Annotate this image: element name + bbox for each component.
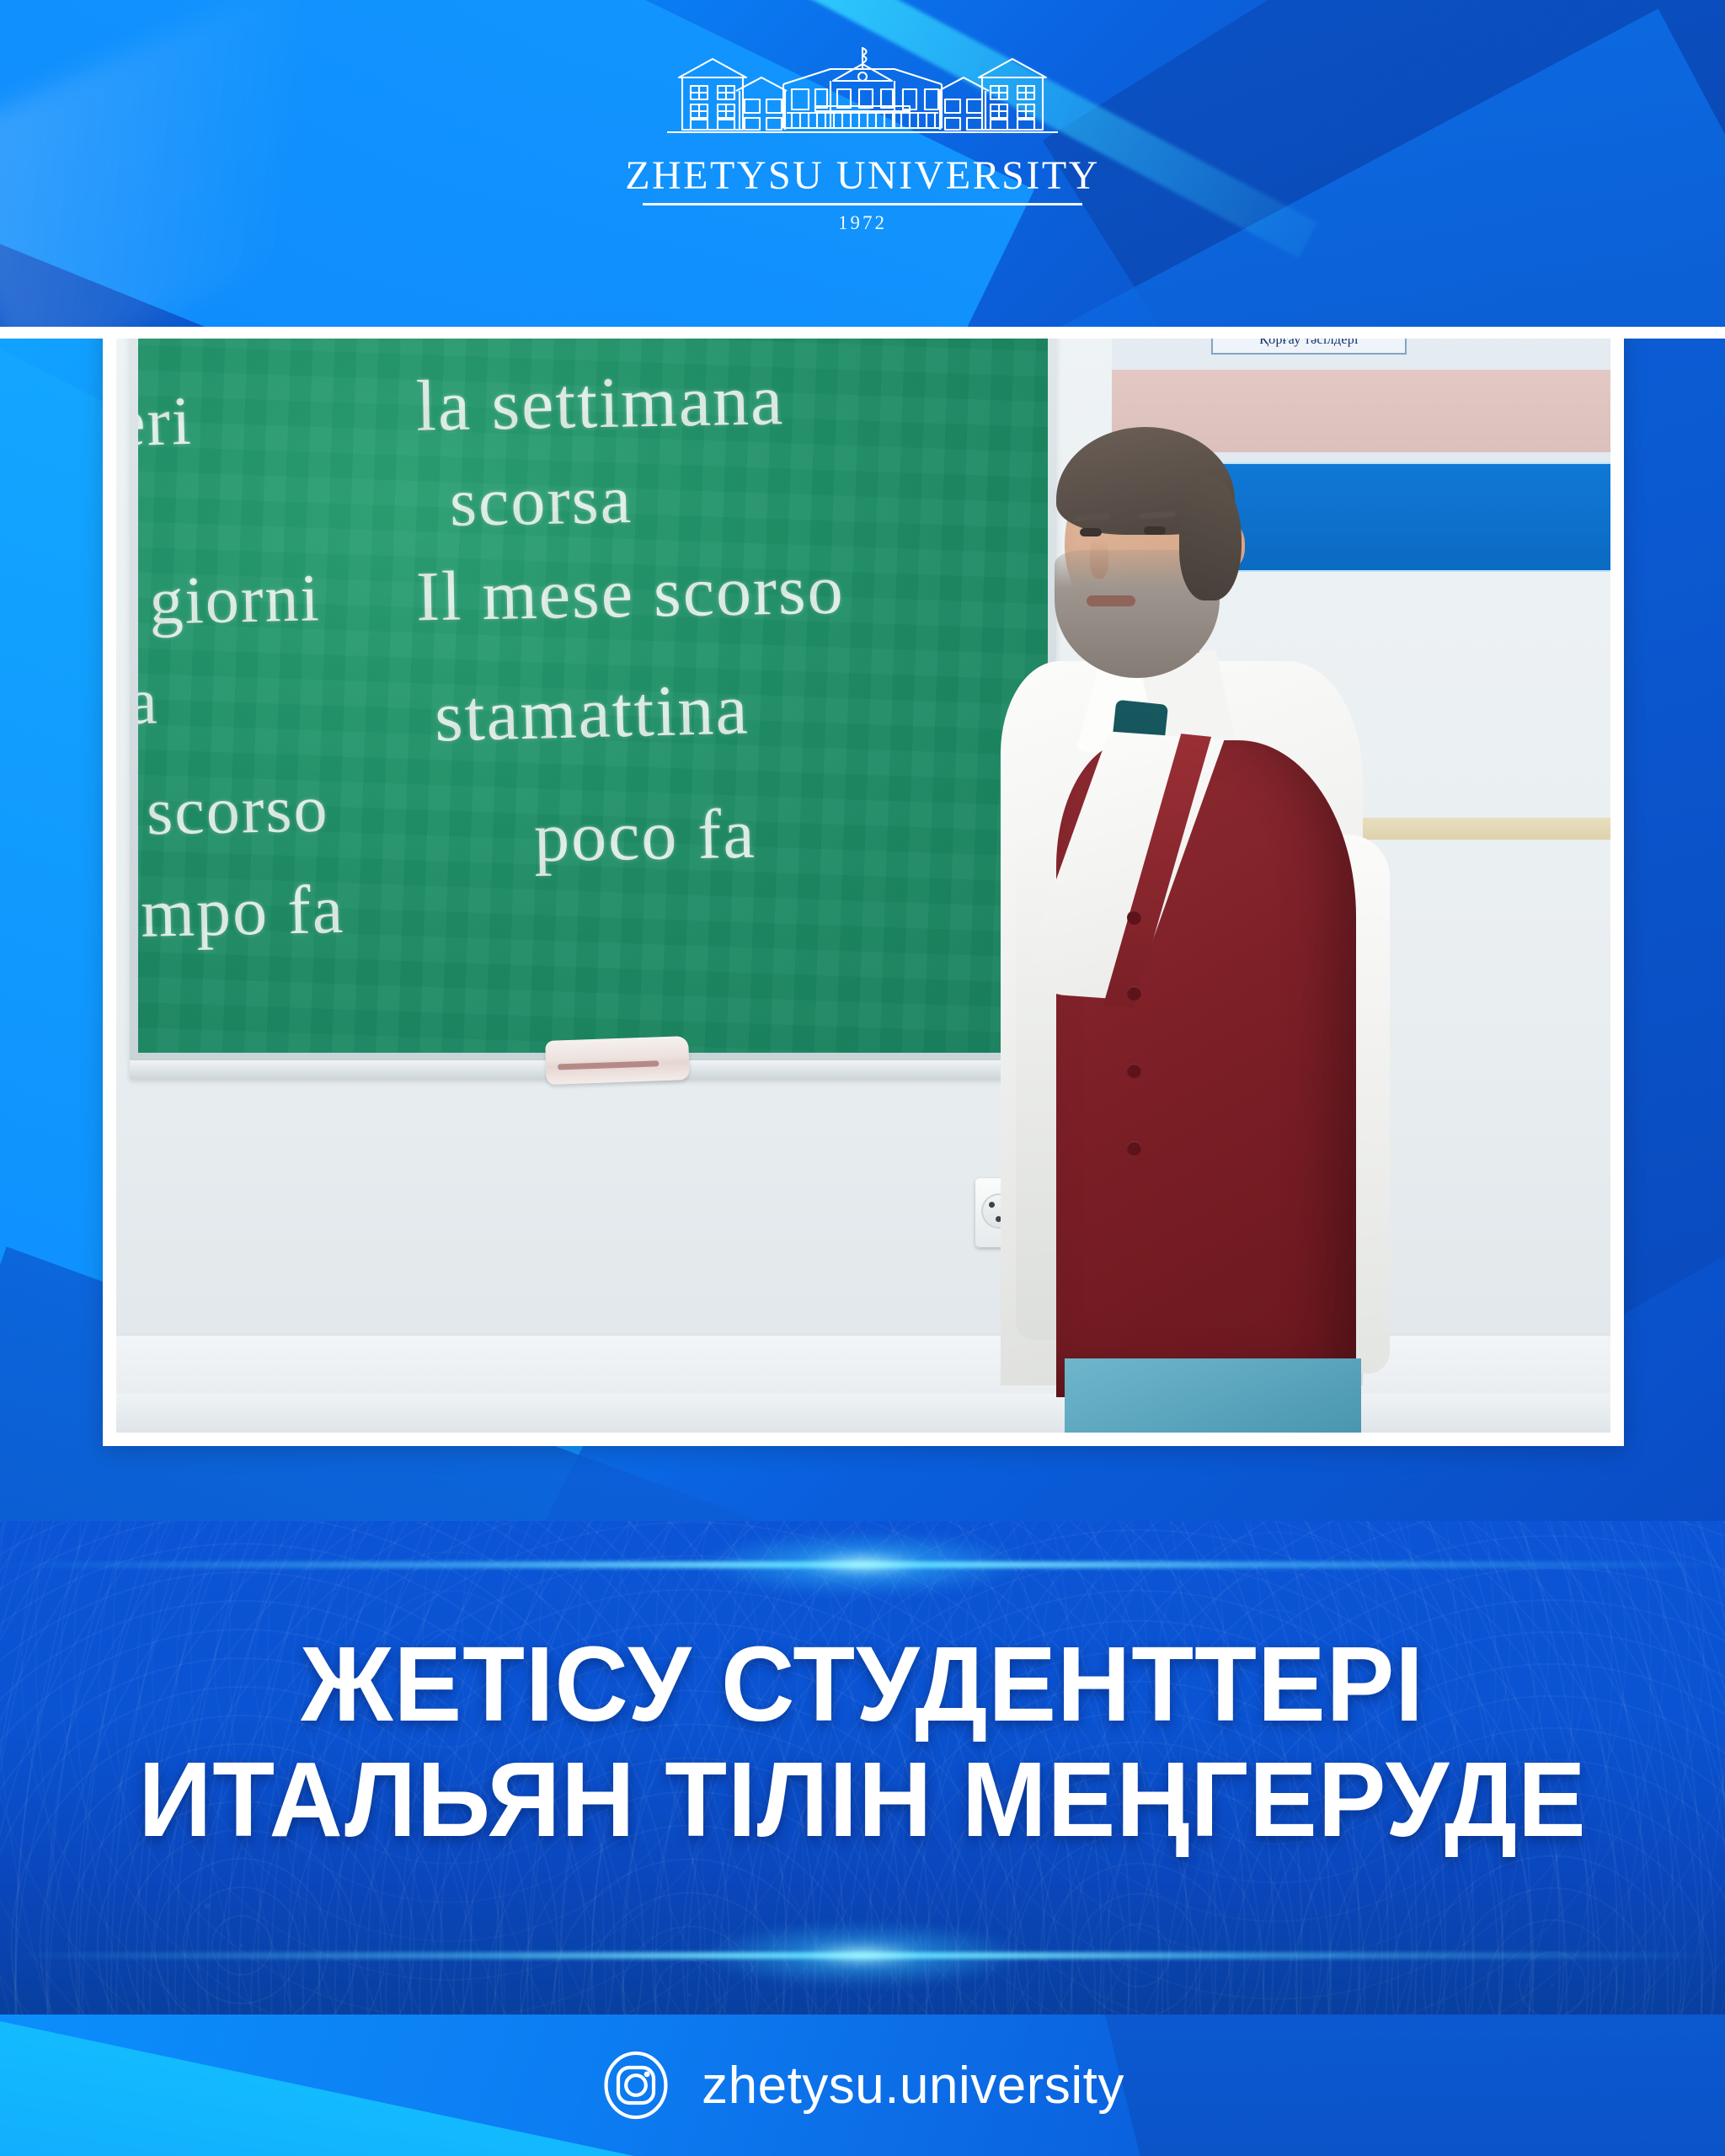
teacher-eye	[1144, 526, 1166, 535]
chalk-text: la settimana	[415, 357, 785, 448]
chalk-text: o scorso	[138, 771, 329, 852]
header-banner: ZHETYSU UNIVERSITY 1972	[0, 0, 1725, 327]
teacher-figure	[962, 439, 1434, 1433]
headline-section: ЖЕТІСУ СТУДЕНТТЕРІ ИТАЛЬЯН ТІЛІН МЕҢГЕРУ…	[0, 1521, 1725, 2015]
headline-line-2: ИТАЛЬЯН ТІЛІН МЕҢГЕРУДЕ	[35, 1746, 1690, 1854]
logo-divider	[643, 203, 1082, 205]
chalk-text: tempo fa	[138, 870, 345, 954]
university-name: ZHETYSU UNIVERSITY	[625, 156, 1100, 196]
footer-bar: zhetysu.university	[0, 2015, 1725, 2156]
classroom-photo: Қорғау тәсілдері eri la settimana scorsa…	[116, 339, 1610, 1433]
headline-line-1: ЖЕТІСУ СТУДЕНТТЕРІ	[35, 1630, 1690, 1739]
vest-button	[1127, 1141, 1141, 1155]
classroom-photo-card: Қорғау тәсілдері eri la settimana scorsa…	[103, 339, 1624, 1446]
chalkboard-frame: eri la settimana scorsa e giorni Il mese…	[130, 339, 1056, 1060]
university-logo: ZHETYSU UNIVERSITY 1972	[0, 44, 1725, 234]
glow-flare-top	[694, 1531, 1031, 1597]
wall-poster-label: Қорғау тәсілдері	[1211, 339, 1407, 355]
chalk-text: e giorni	[138, 560, 322, 641]
teacher-mouth	[1087, 595, 1135, 606]
chalk-text: fa	[138, 663, 159, 739]
chalk-text: eri	[138, 382, 194, 462]
vest-button	[1127, 1064, 1141, 1078]
header-photo-divider	[0, 327, 1725, 339]
chalk-text: stamattina	[434, 666, 750, 758]
teacher-trousers	[1065, 1358, 1361, 1433]
founded-year: 1972	[838, 212, 887, 234]
instagram-handle[interactable]: zhetysu.university	[702, 2056, 1124, 2116]
chalk-text: scorsa	[449, 460, 633, 542]
chalkboard-eraser-cloth	[545, 1036, 690, 1085]
social-handle-group[interactable]: zhetysu.university	[0, 2015, 1725, 2156]
university-building-icon	[635, 44, 1090, 145]
chalkboard-surface: eri la settimana scorsa e giorni Il mese…	[138, 339, 1048, 1053]
chalk-text: Il mese scorso	[415, 549, 845, 638]
teacher-nose	[1090, 538, 1108, 579]
vest-button	[1127, 910, 1141, 925]
chalk-text: poco fa	[533, 793, 756, 879]
vest-button	[1127, 986, 1141, 1001]
page-title: ЖЕТІСУ СТУДЕНТТЕРІ ИТАЛЬЯН ТІЛІН МЕҢГЕРУ…	[0, 1630, 1725, 1854]
photo-section: Қорғау тәсілдері eri la settimana scorsa…	[0, 339, 1725, 1521]
poster-root: ZHETYSU UNIVERSITY 1972 Қорғау тәсілдері…	[0, 0, 1725, 2156]
glow-flare-bottom	[694, 1922, 1031, 1988]
teacher-eye	[1080, 528, 1102, 536]
instagram-icon[interactable]	[601, 2050, 671, 2121]
teacher-hair-side	[1179, 476, 1242, 600]
